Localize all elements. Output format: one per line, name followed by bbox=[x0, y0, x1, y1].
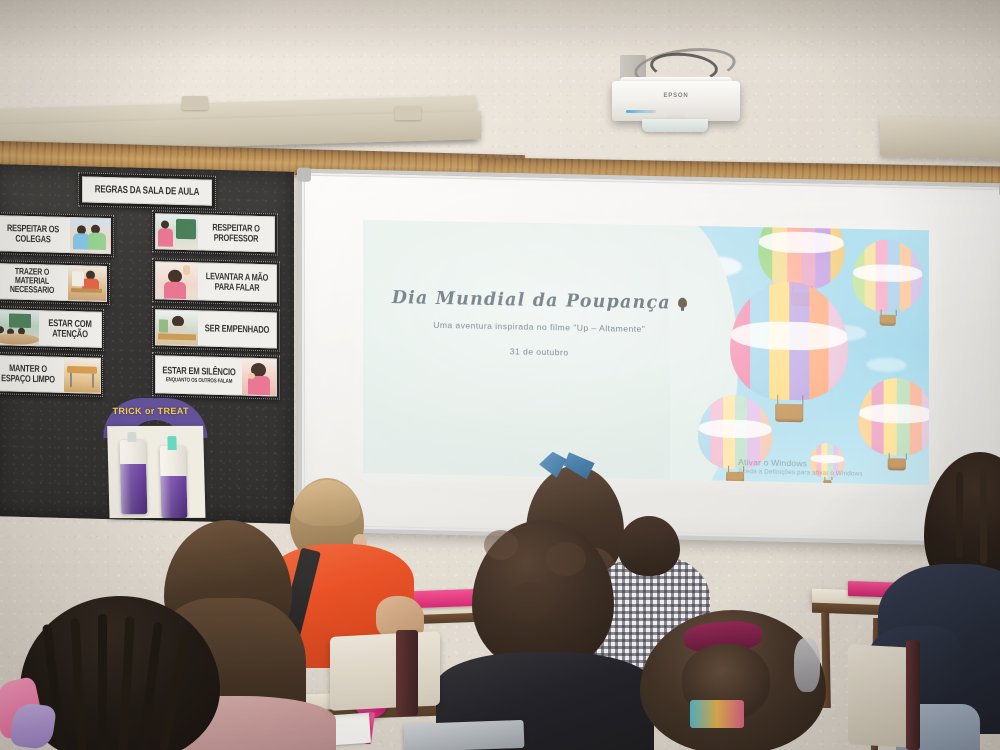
craft-bottle-neck-right bbox=[167, 436, 176, 450]
chair-frame bbox=[906, 640, 920, 750]
hair-clip bbox=[794, 638, 820, 692]
raised-hand-child-icon bbox=[156, 262, 198, 299]
chair-frame bbox=[396, 630, 418, 716]
light-mount-clip bbox=[182, 96, 208, 110]
rule-estar-silencio: ESTAR EM SILÊNCIO ENQUANTO OS OUTROS FAL… bbox=[155, 355, 277, 396]
rule-ser-empenhado: SER EMPENHADO bbox=[155, 309, 277, 348]
rule-respeitar-professor: RESPEITAR O PROFESSOR bbox=[155, 213, 275, 252]
projector-lens-housing bbox=[642, 119, 708, 132]
projector-status-leds bbox=[626, 110, 656, 113]
rule-label: SER EMPENHADO bbox=[198, 323, 276, 335]
rule-label: MANTER O ESPAÇO LIMPO bbox=[0, 363, 64, 384]
student-braided-hair-front-left bbox=[0, 588, 240, 750]
ceiling-light-fixture-right bbox=[880, 116, 1000, 159]
craft-bottle-left bbox=[119, 440, 147, 514]
teacher-chalkboard-icon bbox=[156, 214, 198, 249]
projected-slide: Dia Mundial da Poupança Uma aventura ins… bbox=[363, 220, 929, 485]
rule-label: RESPEITAR O PROFESSOR bbox=[198, 223, 274, 244]
rule-label: RESPEITAR OS COLEGAS bbox=[0, 223, 70, 244]
slide-subtitle: Uma aventura inspirada no filme "Up – Al… bbox=[385, 319, 694, 335]
studying-child-icon bbox=[156, 310, 198, 345]
projector: EPSON bbox=[612, 55, 740, 127]
light-mount-clip bbox=[395, 106, 421, 120]
hot-air-balloon-icon bbox=[678, 298, 687, 311]
craft-title-text: TRICK or TREAT bbox=[99, 406, 203, 416]
rule-levantar-mao: LEVANTAR A MÃO PARA FALAR bbox=[155, 261, 277, 302]
craft-bottle-neck-left bbox=[127, 432, 136, 442]
quiet-child-icon bbox=[242, 359, 276, 396]
classroom-icon bbox=[0, 310, 39, 345]
rules-header-text: REGRAS DA SALA DE AULA bbox=[83, 184, 211, 198]
rule-manter-espaco: MANTER O ESPAÇO LIMPO bbox=[0, 355, 101, 394]
halloween-craft-poster: TRICK or TREAT bbox=[98, 398, 213, 522]
rule-label-wrap: ESTAR EM SILÊNCIO ENQUANTO OS OUTROS FAL… bbox=[156, 366, 242, 385]
student-desk-icon bbox=[68, 266, 106, 301]
craft-bottle-right bbox=[160, 446, 188, 518]
classroom-photo: EPSON REGRAS DA SALA DE AULA RESPEITAR O… bbox=[0, 0, 1000, 750]
slide-text-block: Dia Mundial da Poupança Uma aventura ins… bbox=[385, 288, 694, 360]
whiteboard-corner bbox=[297, 168, 311, 182]
craft-paper-sheet bbox=[107, 426, 205, 518]
rule-label: TRAZER O MATERIAL NECESSARIO bbox=[0, 267, 68, 296]
rule-label: ESTAR COM ATENÇÃO bbox=[39, 318, 101, 339]
rule-sublabel: ENQUANTO OS OUTROS FALAM bbox=[158, 377, 240, 385]
student-dark-curly-center bbox=[440, 520, 650, 750]
ceiling-shadow bbox=[0, 0, 1000, 60]
chair-back-right bbox=[848, 644, 914, 747]
chair-back-center bbox=[330, 631, 440, 711]
rule-label: LEVANTAR A MÃO PARA FALAR bbox=[198, 272, 276, 293]
rule-estar-atencao: ESTAR COM ATENÇÃO bbox=[0, 309, 102, 348]
tablet-device[interactable] bbox=[404, 720, 525, 750]
slide-title-text: Dia Mundial da Poupança bbox=[392, 288, 671, 313]
colorful-pencil-case[interactable] bbox=[690, 700, 744, 728]
rule-respeitar-colegas: RESPEITAR OS COLEGAS bbox=[0, 215, 111, 254]
projector-brand-label: EPSON bbox=[612, 93, 740, 99]
rules-header-card: REGRAS DA SALA DE AULA bbox=[82, 176, 212, 205]
clean-desk-icon bbox=[64, 358, 100, 393]
two-children-icon bbox=[70, 218, 110, 253]
rule-trazer-material: TRAZER O MATERIAL NECESSARIO bbox=[0, 263, 107, 302]
